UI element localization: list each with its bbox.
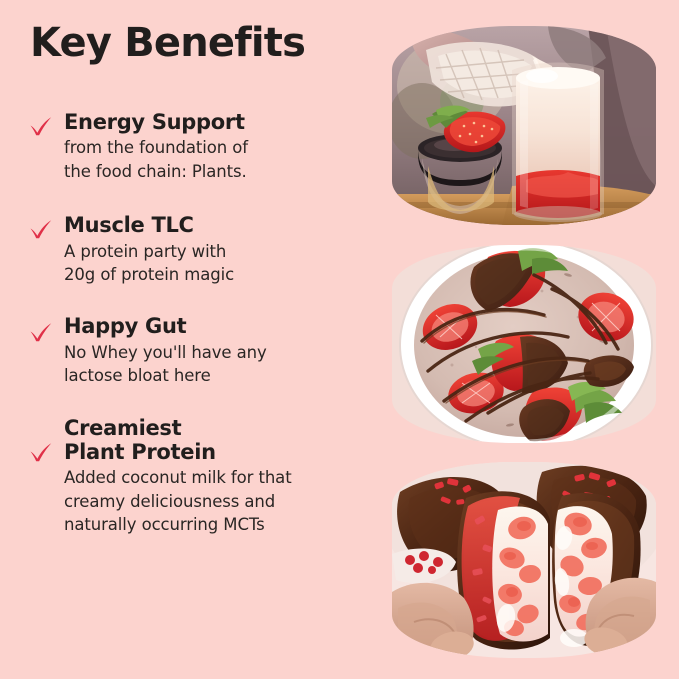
benefits-text-column: Key Benefits Energy Support from the fou… [0, 0, 382, 679]
benefit-body: A protein party with 20g of protein magi… [64, 240, 372, 287]
photo-image [392, 26, 656, 225]
photo-image [392, 245, 656, 443]
benefit-heading: Muscle TLC [64, 213, 372, 237]
benefit-item-happy-gut: Happy Gut No Whey you'll have any lactos… [28, 314, 372, 387]
benefit-item-creamiest-plant-protein: Creamiest Plant Protein Added coconut mi… [28, 416, 372, 537]
photo-chocolate-strawberry-cream-bites [392, 462, 656, 658]
benefit-heading: Creamiest Plant Protein [64, 416, 372, 465]
check-icon [28, 217, 54, 243]
product-photo-column [392, 0, 656, 679]
check-icon [28, 114, 54, 140]
photo-chocolate-strawberry-smoothie-bowl [392, 245, 656, 443]
benefit-body: No Whey you'll have any lactose bloat he… [64, 341, 372, 388]
check-icon [28, 320, 54, 346]
benefit-body: from the foundation of the food chain: P… [64, 136, 372, 183]
photo-image [392, 462, 656, 658]
benefit-heading: Energy Support [64, 110, 372, 134]
benefit-item-muscle-tlc: Muscle TLC A protein party with 20g of p… [28, 213, 372, 286]
benefit-item-energy-support: Energy Support from the foundation of th… [28, 110, 372, 183]
page-title: Key Benefits [30, 22, 372, 64]
check-icon [28, 440, 54, 466]
photo-strawberry-shake-pour [392, 26, 656, 225]
benefit-heading: Happy Gut [64, 314, 372, 338]
benefit-body: Added coconut milk for that creamy delic… [64, 466, 372, 536]
infographic-page: Key Benefits Energy Support from the fou… [0, 0, 679, 679]
